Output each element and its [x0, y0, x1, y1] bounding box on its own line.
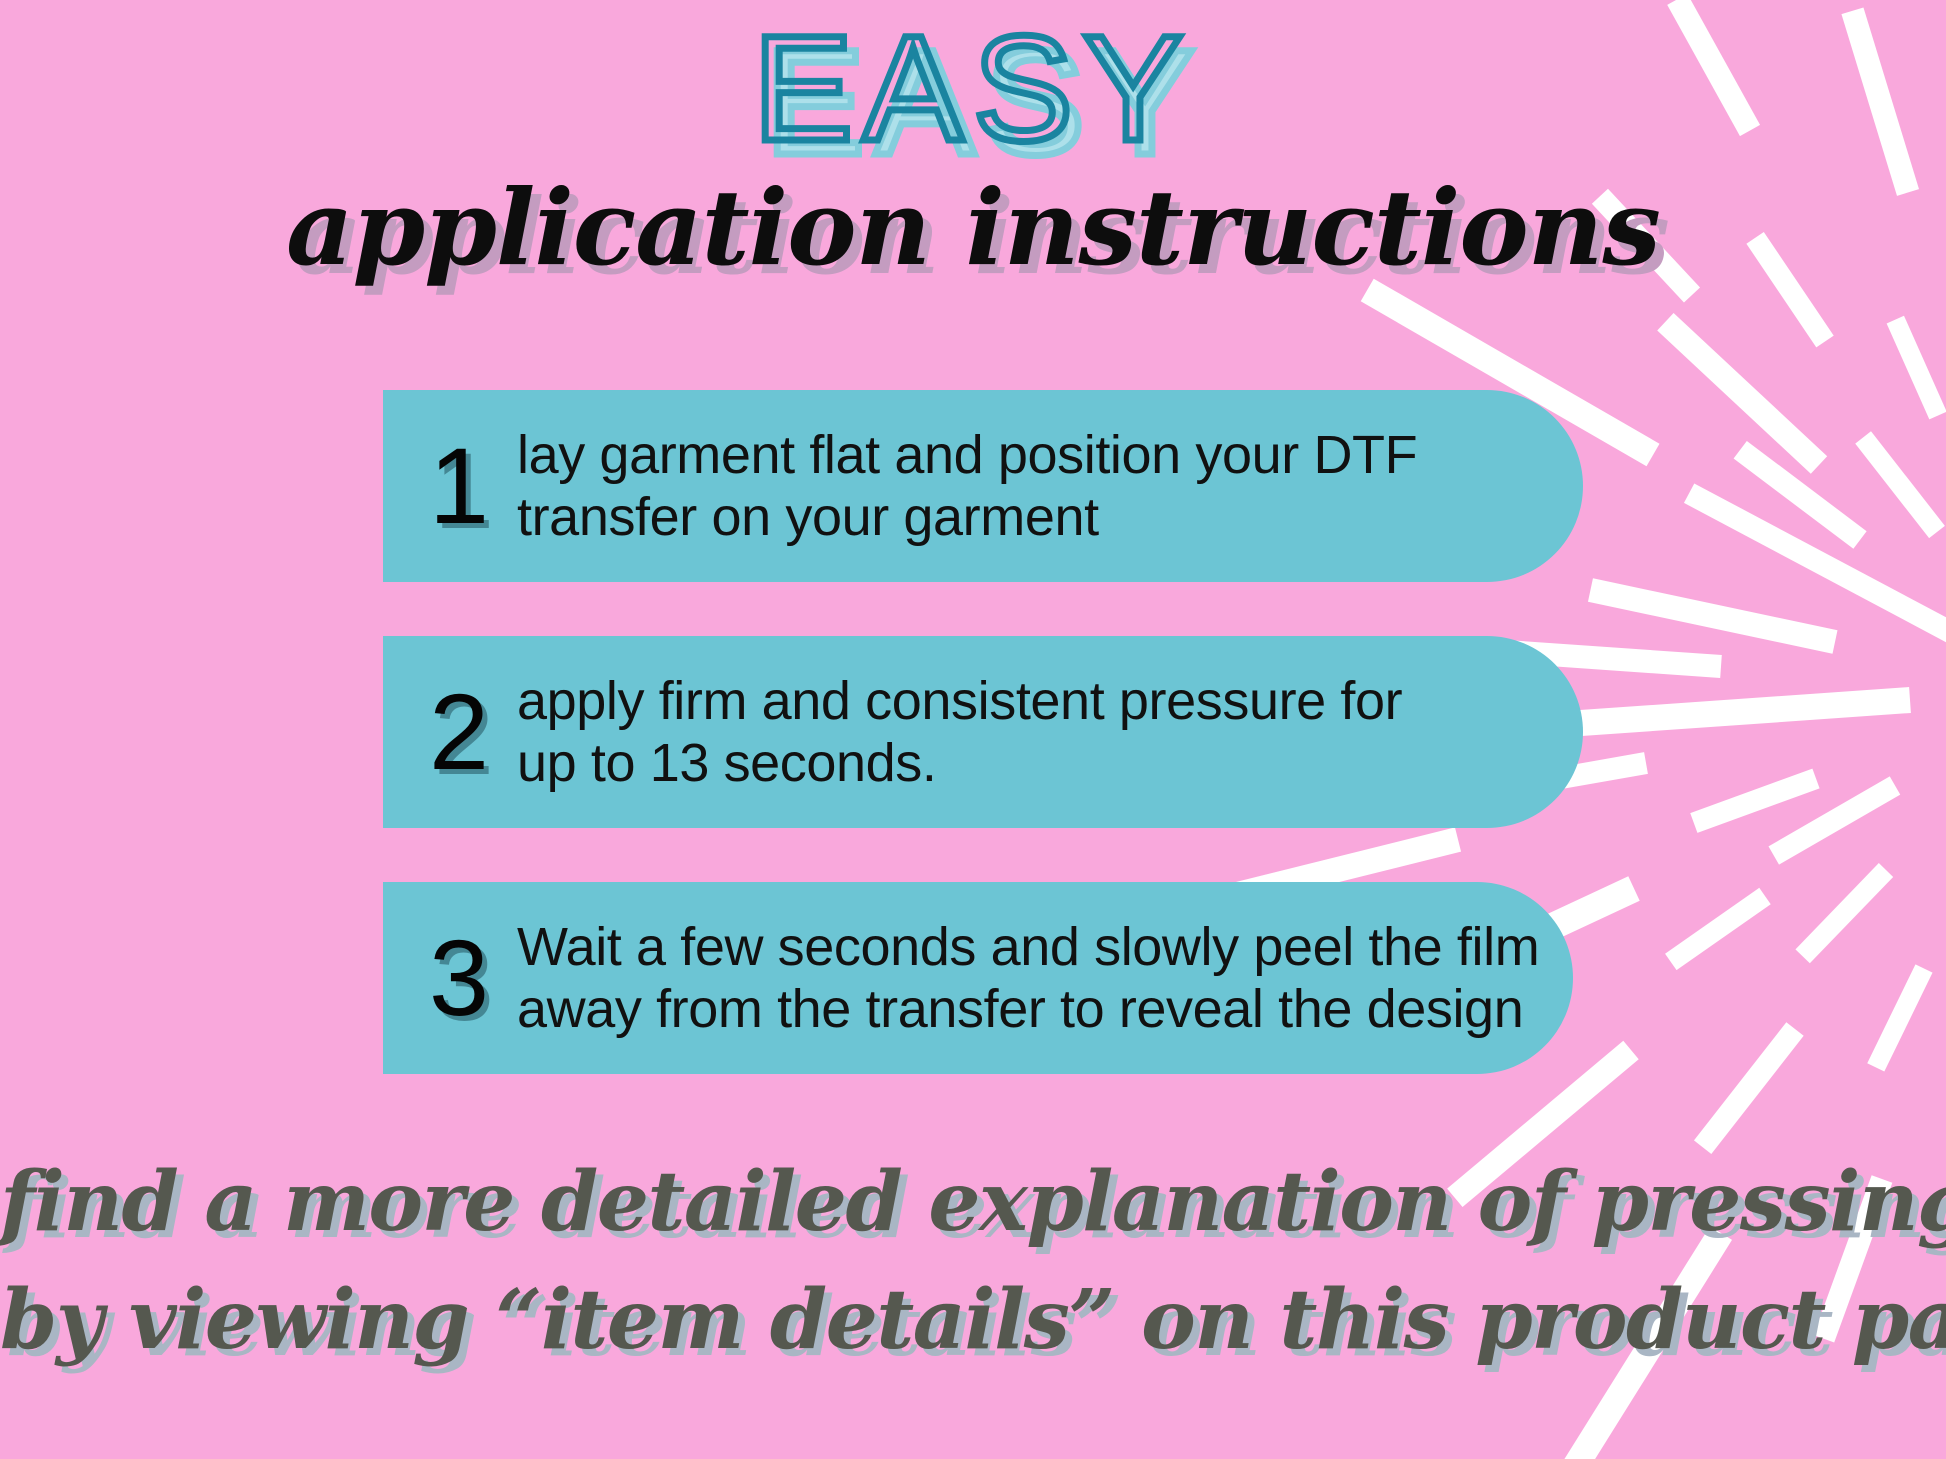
- step-item-3: 3 Wait a few seconds and slowly peel the…: [383, 882, 1573, 1074]
- footer-note: find a more detailed explanation of pres…: [0, 1143, 1946, 1379]
- step-text-3: Wait a few seconds and slowly peel the f…: [517, 916, 1573, 1040]
- step-number-2: 2: [383, 678, 517, 786]
- starburst-ray: [1588, 578, 1838, 653]
- starburst-ray: [1665, 888, 1771, 970]
- step-text-2-line-2: up to 13 seconds.: [517, 732, 1559, 794]
- step-text-3-line-2: away from the transfer to reveal the des…: [517, 978, 1549, 1040]
- step-number-3: 3: [383, 924, 517, 1032]
- step-text-1-line-2: transfer on your garment: [517, 486, 1559, 548]
- footer-line-1: find a more detailed explanation of pres…: [0, 1143, 1946, 1261]
- page-title: application instructions: [0, 168, 1946, 288]
- starburst-ray: [1580, 687, 1911, 736]
- starburst-ray: [1887, 316, 1946, 420]
- starburst-ray: [1734, 440, 1867, 548]
- step-text-2-line-1: apply firm and consistent pressure for: [517, 670, 1559, 732]
- eyebrow-main-outline: EASY: [0, 8, 1946, 168]
- step-text-1-line-1: lay garment flat and position your DTF: [517, 424, 1559, 486]
- starburst-ray: [1690, 769, 1819, 833]
- starburst-ray: [1867, 964, 1932, 1071]
- step-item-1: 1 lay garment flat and position your DTF…: [383, 390, 1583, 582]
- step-item-2: 2 apply firm and consistent pressure for…: [383, 636, 1583, 828]
- step-text-2: apply firm and consistent pressure for u…: [517, 670, 1583, 794]
- starburst-ray: [1855, 432, 1945, 539]
- eyebrow-heading: EASY EASY EASY: [0, 8, 1946, 178]
- starburst-ray: [1657, 313, 1827, 474]
- footer-line-2: by viewing “item details” on this produc…: [0, 1261, 1946, 1379]
- starburst-ray: [1769, 776, 1901, 864]
- step-text-3-line-1: Wait a few seconds and slowly peel the f…: [517, 916, 1549, 978]
- poster-canvas: EASY EASY EASY application instructions …: [0, 0, 1946, 1459]
- step-text-1: lay garment flat and position your DTF t…: [517, 424, 1583, 548]
- starburst-ray: [1694, 1022, 1804, 1154]
- starburst-ray: [1684, 483, 1946, 643]
- starburst-ray: [1796, 863, 1894, 963]
- step-number-1: 1: [383, 432, 517, 540]
